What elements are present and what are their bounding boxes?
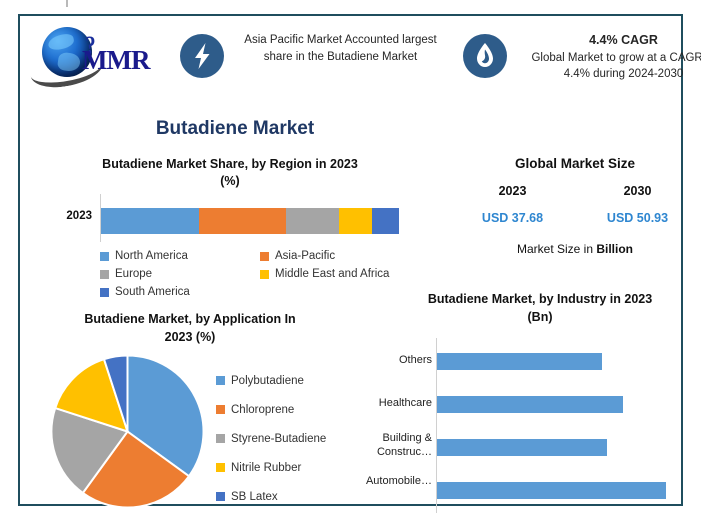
pie-legend-label-polybutadiene: Polybutadiene (231, 375, 304, 387)
industry-label-building-construc: Building & Construc… (334, 431, 432, 459)
badge-asia-pacific-text: Asia Pacific Market Accounted largest sh… (238, 32, 443, 65)
industry-label-automobile: Automobile… (334, 474, 432, 488)
badge-asia-pacific-body: Asia Pacific Market Accounted largest sh… (244, 34, 436, 63)
market-size-footnote: Market Size in Billion (450, 242, 700, 256)
application-pie-title-line2: 2023 (%) (45, 328, 335, 346)
pie-legend-item-chloroprene: Chloroprene (216, 395, 326, 424)
pie-legend-item-sb-latex: SB Latex (216, 482, 326, 511)
pie-legend-label-nitrile-rubber: Nitrile Rubber (231, 462, 301, 474)
pie-legend-swatch-sb-latex (216, 492, 225, 501)
region-stacked-bar-chart: 2023 (82, 194, 402, 242)
pie-legend-swatch-styrene-butadiene (216, 434, 225, 443)
pie-legend-label-sb-latex: SB Latex (231, 491, 278, 503)
market-size-value-2030: USD 50.93 (575, 211, 700, 225)
region-segment-north-america (101, 208, 199, 234)
legend-label-middle-east-africa: Middle East and Africa (275, 268, 389, 280)
page-title: Butadiene Market (20, 118, 450, 140)
logo-text: MMR (82, 45, 149, 76)
market-size-footnote-unit: Billion (596, 242, 633, 256)
industry-chart-title-line2: (Bn) (390, 308, 690, 326)
legend-item-asia-pacific: Asia-Pacific (260, 250, 335, 262)
badge-cagr-text: 4.4% CAGR Global Market to grow at a CAG… (521, 32, 701, 83)
industry-bar-automobile (437, 482, 666, 499)
top-tick-mark (66, 0, 68, 7)
infographic-frame: ? MMR Asia Pacific Market Accounted larg… (18, 14, 683, 506)
pie-legend-label-styrene-butadiene: Styrene-Butadiene (231, 433, 326, 445)
industry-row: Others (392, 342, 692, 385)
legend-swatch-asia-pacific (260, 252, 269, 261)
region-segment-south-america (372, 208, 399, 234)
region-segment-europe (286, 208, 340, 234)
badge-cagr-strong: 4.4% CAGR (521, 32, 701, 49)
legend-item-europe: Europe (100, 268, 260, 280)
pie-legend-item-styrene-butadiene: Styrene-Butadiene (216, 424, 326, 453)
industry-chart-title: Butadiene Market, by Industry in 2023 (B… (390, 290, 690, 326)
market-size-value-2023: USD 37.68 (450, 211, 575, 225)
industry-label-healthcare: Healthcare (334, 396, 432, 410)
industry-bar-chart: OthersHealthcareBuilding & Construc…Auto… (392, 338, 692, 513)
legend-label-asia-pacific: Asia-Pacific (275, 250, 335, 262)
industry-bar-healthcare (437, 396, 623, 413)
region-legend: North America Asia-Pacific Europe Middle… (100, 247, 430, 301)
industry-row: Automobile… (392, 471, 692, 514)
pie-legend-label-chloroprene: Chloroprene (231, 404, 294, 416)
market-size-year-2023: 2023 (450, 184, 575, 198)
industry-row: Building & Construc… (392, 428, 692, 471)
region-segment-middle-east-and-africa (339, 208, 372, 234)
region-segment-asia-pacific (199, 208, 285, 234)
lightning-bolt-icon (180, 34, 224, 78)
badge-cagr-body: Global Market to grow at a CAGR of 4.4% … (531, 52, 701, 81)
application-pie-title-line1: Butadiene Market, by Application In (45, 310, 335, 328)
legend-item-middle-east-africa: Middle East and Africa (260, 268, 389, 280)
legend-label-south-america: South America (115, 286, 190, 298)
flame-drop-icon (463, 34, 507, 78)
global-market-size: Global Market Size 2023 2030 USD 37.68 U… (450, 156, 700, 256)
global-market-size-title: Global Market Size (450, 156, 700, 171)
region-chart-title-line2: (%) (50, 173, 410, 190)
region-chart-title: Butadiene Market Share, by Region in 202… (50, 156, 410, 190)
legend-item-south-america: South America (100, 286, 260, 298)
industry-bar-others (437, 353, 602, 370)
region-chart-title-line1: Butadiene Market Share, by Region in 202… (50, 156, 410, 173)
mmr-logo: ? MMR (28, 21, 163, 89)
pie-legend-swatch-chloroprene (216, 405, 225, 414)
pie-legend-swatch-polybutadiene (216, 376, 225, 385)
industry-chart-title-line1: Butadiene Market, by Industry in 2023 (390, 290, 690, 308)
legend-item-north-america: North America (100, 250, 260, 262)
region-stack (101, 208, 399, 234)
region-category-label: 2023 (36, 210, 92, 222)
pie-legend-swatch-nitrile-rubber (216, 463, 225, 472)
industry-row: Healthcare (392, 385, 692, 428)
market-size-footnote-prefix: Market Size in (517, 242, 596, 256)
application-pie-chart (50, 354, 205, 509)
legend-swatch-south-america (100, 288, 109, 297)
legend-label-europe: Europe (115, 268, 152, 280)
pie-legend-item-polybutadiene: Polybutadiene (216, 366, 326, 395)
legend-swatch-middle-east-africa (260, 270, 269, 279)
legend-label-north-america: North America (115, 250, 188, 262)
application-pie-legend: Polybutadiene Chloroprene Styrene-Butadi… (216, 366, 326, 511)
application-pie-title: Butadiene Market, by Application In 2023… (45, 310, 335, 346)
market-size-year-2030: 2030 (575, 184, 700, 198)
industry-label-others: Others (334, 353, 432, 367)
header: ? MMR Asia Pacific Market Accounted larg… (20, 16, 681, 96)
legend-swatch-europe (100, 270, 109, 279)
pie-legend-item-nitrile-rubber: Nitrile Rubber (216, 453, 326, 482)
industry-bar-building-construc (437, 439, 607, 456)
legend-swatch-north-america (100, 252, 109, 261)
